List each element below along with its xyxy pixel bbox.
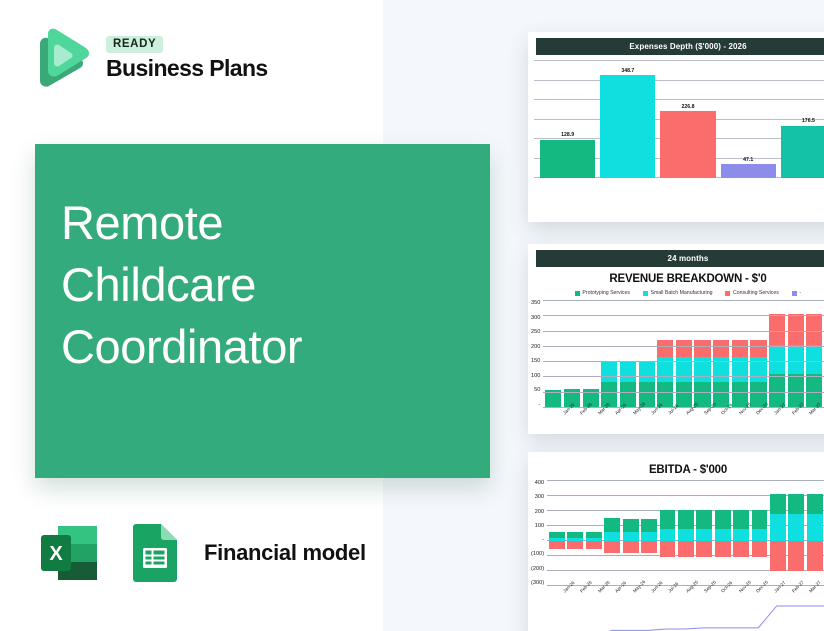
bar-segment-revenue[interactable] bbox=[623, 519, 639, 533]
bar-segment[interactable] bbox=[601, 362, 617, 382]
negative-stack bbox=[567, 541, 583, 586]
bar-segment[interactable] bbox=[769, 345, 785, 374]
bar-segment-revenue[interactable] bbox=[696, 510, 712, 530]
y-tick-label: 200 bbox=[531, 344, 540, 350]
y-tick-label: 350 bbox=[531, 300, 540, 306]
y-tick-label: 200 bbox=[531, 509, 544, 515]
negative-stack bbox=[715, 541, 731, 586]
positive-stack bbox=[660, 480, 676, 541]
bar-column[interactable] bbox=[788, 480, 804, 586]
y-tick-label: 50 bbox=[531, 387, 540, 393]
legend-item[interactable]: - bbox=[792, 290, 801, 296]
bar-segment-revenue[interactable] bbox=[733, 510, 749, 530]
bar-column[interactable] bbox=[694, 300, 710, 408]
bar-column[interactable] bbox=[676, 300, 692, 408]
bar-segment-cogs[interactable] bbox=[623, 532, 639, 540]
bar-segment-opex[interactable] bbox=[696, 541, 712, 558]
bar-column[interactable] bbox=[696, 480, 712, 586]
bar-segment[interactable] bbox=[732, 357, 748, 382]
revenue-bars bbox=[543, 300, 824, 408]
y-tick-label: 300 bbox=[531, 494, 544, 500]
bar-column[interactable] bbox=[620, 300, 636, 408]
legend-label: Small Batch Manufacturing bbox=[650, 290, 712, 296]
bar-segment-opex[interactable] bbox=[641, 541, 657, 553]
bar-column[interactable] bbox=[567, 480, 583, 586]
bar-segment-revenue[interactable] bbox=[641, 519, 657, 533]
bar-segment[interactable] bbox=[750, 340, 766, 357]
bar-segment-opex[interactable] bbox=[604, 541, 620, 553]
positive-stack bbox=[586, 480, 602, 541]
bar-segment-opex[interactable] bbox=[623, 541, 639, 553]
bar-segment-opex[interactable] bbox=[752, 541, 768, 558]
bar-column[interactable] bbox=[583, 300, 599, 408]
bar-column[interactable]: 128.9 bbox=[540, 60, 595, 178]
y-tick-label: (200) bbox=[531, 566, 544, 572]
bar-column[interactable] bbox=[770, 480, 786, 586]
revenue-legend: Prototyping ServicesSmall Batch Manufact… bbox=[528, 287, 824, 298]
svg-text:X: X bbox=[49, 543, 63, 565]
bar[interactable] bbox=[660, 111, 715, 178]
bar-segment-cogs[interactable] bbox=[660, 529, 676, 540]
bar-segment-cogs[interactable] bbox=[752, 529, 768, 540]
bar-segment[interactable] bbox=[788, 314, 804, 345]
bar-segment[interactable] bbox=[620, 362, 636, 382]
bar-segment[interactable] bbox=[769, 314, 785, 345]
bar-segment-revenue[interactable] bbox=[678, 510, 694, 530]
bar-column[interactable] bbox=[715, 480, 731, 586]
legend-label: Consulting Services bbox=[733, 290, 779, 296]
bar-segment[interactable] bbox=[694, 340, 710, 357]
y-tick-label: (100) bbox=[531, 551, 544, 557]
page-title: Remote Childcare Coordinator bbox=[61, 192, 302, 378]
bar-segment-opex[interactable] bbox=[788, 541, 804, 571]
bar-segment-cogs[interactable] bbox=[807, 514, 823, 540]
bar-segment[interactable] bbox=[806, 345, 822, 374]
revenue-plot: 35030025020015010050- bbox=[531, 300, 824, 408]
bar-segment-opex[interactable] bbox=[549, 541, 565, 549]
bar-segment-opex[interactable] bbox=[715, 541, 731, 558]
bar-segment-cogs[interactable] bbox=[641, 532, 657, 540]
expenses-chart-banner: Expenses Depth ($'000) - 2026 bbox=[536, 38, 824, 55]
bar-column[interactable] bbox=[657, 300, 673, 408]
y-tick-label: 100 bbox=[531, 523, 544, 529]
positive-stack bbox=[733, 480, 749, 541]
bar-column[interactable] bbox=[752, 480, 768, 586]
negative-stack bbox=[678, 541, 694, 586]
play-logo-icon bbox=[30, 26, 92, 88]
y-tick-label: 300 bbox=[531, 315, 540, 321]
negative-stack bbox=[549, 541, 565, 586]
ebitda-plot: 400300200100-(100)(200)(300) bbox=[531, 480, 824, 586]
bar-segment[interactable] bbox=[713, 357, 729, 382]
bar-segment-revenue[interactable] bbox=[770, 494, 786, 514]
brand-text: READY Business Plans bbox=[106, 34, 268, 81]
bar-value-label: 47.1 bbox=[743, 157, 753, 163]
bar[interactable] bbox=[721, 164, 776, 178]
bar-segment-opex[interactable] bbox=[567, 541, 583, 549]
bar-value-label: 226.8 bbox=[682, 104, 695, 110]
bar-column[interactable] bbox=[549, 480, 565, 586]
bar-value-label: 128.9 bbox=[561, 132, 574, 138]
positive-stack bbox=[641, 480, 657, 541]
bar-segment[interactable] bbox=[713, 340, 729, 357]
bar-segment-revenue[interactable] bbox=[788, 494, 804, 514]
brand-name: Business Plans bbox=[106, 56, 268, 80]
bar-column[interactable] bbox=[713, 300, 729, 408]
bar-segment-cogs[interactable] bbox=[733, 529, 749, 540]
bar-segment-opex[interactable] bbox=[660, 541, 676, 558]
positive-stack bbox=[678, 480, 694, 541]
bar-segment-revenue[interactable] bbox=[604, 518, 620, 532]
ebitda-y-axis: 400300200100-(100)(200)(300) bbox=[531, 480, 547, 586]
bar-column[interactable] bbox=[641, 480, 657, 586]
bar-segment-cogs[interactable] bbox=[696, 529, 712, 540]
positive-stack bbox=[549, 480, 565, 541]
bar[interactable] bbox=[600, 75, 655, 178]
positive-stack bbox=[715, 480, 731, 541]
bar-column[interactable] bbox=[601, 300, 617, 408]
bar-segment-revenue[interactable] bbox=[807, 494, 823, 514]
negative-stack bbox=[696, 541, 712, 586]
brand-lockup: READY Business Plans bbox=[30, 26, 268, 88]
expenses-plot: 128.9348.7226.847.1176.5 bbox=[534, 60, 824, 178]
positive-stack bbox=[788, 480, 804, 541]
bar-column[interactable] bbox=[660, 480, 676, 586]
revenue-chart-title: REVENUE BREAKDOWN - $'0 bbox=[528, 267, 824, 287]
bar-segment[interactable] bbox=[694, 357, 710, 382]
google-sheets-file-icon bbox=[120, 520, 186, 586]
bar-segment[interactable] bbox=[545, 390, 561, 409]
legend-swatch-icon bbox=[643, 291, 648, 296]
ebitda-plot-area bbox=[547, 480, 824, 586]
bar-column[interactable]: 47.1 bbox=[721, 60, 776, 178]
bar-column[interactable] bbox=[769, 300, 785, 408]
bar-segment-opex[interactable] bbox=[807, 541, 823, 571]
bar-value-label: 348.7 bbox=[621, 68, 634, 74]
footer-label: Financial model bbox=[204, 540, 366, 566]
bar-column[interactable] bbox=[732, 300, 748, 408]
revenue-x-axis: Jan-26Feb-26Mar-26Apr-26May-26Jun-26Jul-… bbox=[531, 410, 824, 417]
bar-segment[interactable] bbox=[788, 345, 804, 374]
footer-formats: X Financial model bbox=[36, 520, 366, 586]
y-tick-label: 100 bbox=[531, 373, 540, 379]
y-tick-label: - bbox=[531, 402, 540, 408]
bar-column[interactable] bbox=[639, 300, 655, 408]
bar-column[interactable] bbox=[733, 480, 749, 586]
y-tick-label: 250 bbox=[531, 329, 540, 335]
bar-column[interactable] bbox=[545, 300, 561, 408]
bar-segment[interactable] bbox=[676, 340, 692, 357]
y-tick-label: (300) bbox=[531, 580, 544, 586]
revenue-y-axis: 35030025020015010050- bbox=[531, 300, 543, 408]
positive-stack bbox=[752, 480, 768, 541]
positive-stack bbox=[567, 480, 583, 541]
expenses-plot-area: 128.9348.7226.847.1176.5 bbox=[534, 60, 824, 178]
legend-item[interactable]: Prototyping Services bbox=[575, 290, 630, 296]
bar-segment-opex[interactable] bbox=[733, 541, 749, 558]
bar-segment-opex[interactable] bbox=[678, 541, 694, 558]
legend-swatch-icon bbox=[575, 291, 580, 296]
chart-card-ebitda[interactable]: EBITDA - $'000 RevenueCOGSOPEX0 40030020… bbox=[528, 452, 824, 631]
chart-card-revenue[interactable]: 24 months REVENUE BREAKDOWN - $'0 Protot… bbox=[528, 244, 824, 434]
excel-file-icon: X bbox=[36, 520, 102, 586]
bar-segment-revenue[interactable] bbox=[752, 510, 768, 530]
legend-label: - bbox=[799, 290, 801, 296]
y-tick-label: 150 bbox=[531, 358, 540, 364]
bar-column[interactable] bbox=[806, 300, 822, 408]
bar-column[interactable] bbox=[586, 480, 602, 586]
bar-segment-revenue[interactable] bbox=[660, 510, 676, 530]
legend-swatch-icon bbox=[725, 291, 730, 296]
y-tick-label: - bbox=[531, 537, 544, 543]
positive-stack bbox=[696, 480, 712, 541]
hero-panel: Remote Childcare Coordinator bbox=[35, 144, 490, 478]
bar[interactable] bbox=[781, 126, 824, 178]
revenue-chart-banner: 24 months bbox=[536, 250, 824, 267]
y-tick-label: 400 bbox=[531, 480, 544, 486]
legend-label: Prototyping Services bbox=[582, 290, 630, 296]
bar-segment[interactable] bbox=[657, 357, 673, 382]
bar-column[interactable]: 348.7 bbox=[600, 60, 655, 178]
positive-stack bbox=[770, 480, 786, 541]
bar-segment-cogs[interactable] bbox=[788, 514, 804, 540]
negative-stack bbox=[733, 541, 749, 586]
bar-value-label: 176.5 bbox=[802, 118, 815, 124]
bar-column[interactable] bbox=[623, 480, 639, 586]
positive-stack bbox=[623, 480, 639, 541]
bar-segment[interactable] bbox=[657, 340, 673, 357]
bar[interactable] bbox=[540, 140, 595, 178]
ready-badge: READY bbox=[106, 36, 163, 54]
bar-segment-cogs[interactable] bbox=[715, 529, 731, 540]
positive-stack bbox=[807, 480, 823, 541]
chart-card-expenses[interactable]: Expenses Depth ($'000) - 2026 128.9348.7… bbox=[528, 32, 824, 222]
revenue-plot-area bbox=[543, 300, 824, 408]
legend-swatch-icon bbox=[792, 291, 797, 296]
bar-column[interactable]: 226.8 bbox=[660, 60, 715, 178]
legend-item[interactable]: Consulting Services bbox=[725, 290, 778, 296]
ebitda-bars bbox=[547, 480, 824, 586]
bar-segment[interactable] bbox=[676, 357, 692, 382]
bar-segment-cogs[interactable] bbox=[604, 532, 620, 540]
bar-segment-revenue[interactable] bbox=[715, 510, 731, 530]
bar-column[interactable] bbox=[564, 300, 580, 408]
bar-segment[interactable] bbox=[639, 362, 655, 382]
bar-segment-cogs[interactable] bbox=[770, 514, 786, 540]
legend-item[interactable]: Small Batch Manufacturing bbox=[643, 290, 713, 296]
negative-stack bbox=[660, 541, 676, 586]
bar-column[interactable]: 176.5 bbox=[781, 60, 824, 178]
negative-stack bbox=[807, 541, 823, 586]
bar-column[interactable] bbox=[604, 480, 620, 586]
bar-segment-opex[interactable] bbox=[770, 541, 786, 571]
bar-segment-opex[interactable] bbox=[586, 541, 602, 549]
bar-column[interactable] bbox=[750, 300, 766, 408]
bar-segment[interactable] bbox=[732, 340, 748, 357]
promo-card: READY Business Plans Remote Childcare Co… bbox=[0, 0, 824, 631]
bar-segment[interactable] bbox=[750, 357, 766, 382]
bar-column[interactable] bbox=[788, 300, 804, 408]
bar-column[interactable] bbox=[807, 480, 823, 586]
bar-column[interactable] bbox=[678, 480, 694, 586]
bar-segment-cogs[interactable] bbox=[678, 529, 694, 540]
bar-segment[interactable] bbox=[806, 314, 822, 345]
expenses-bars: 128.9348.7226.847.1176.5 bbox=[534, 60, 824, 178]
positive-stack bbox=[604, 480, 620, 541]
